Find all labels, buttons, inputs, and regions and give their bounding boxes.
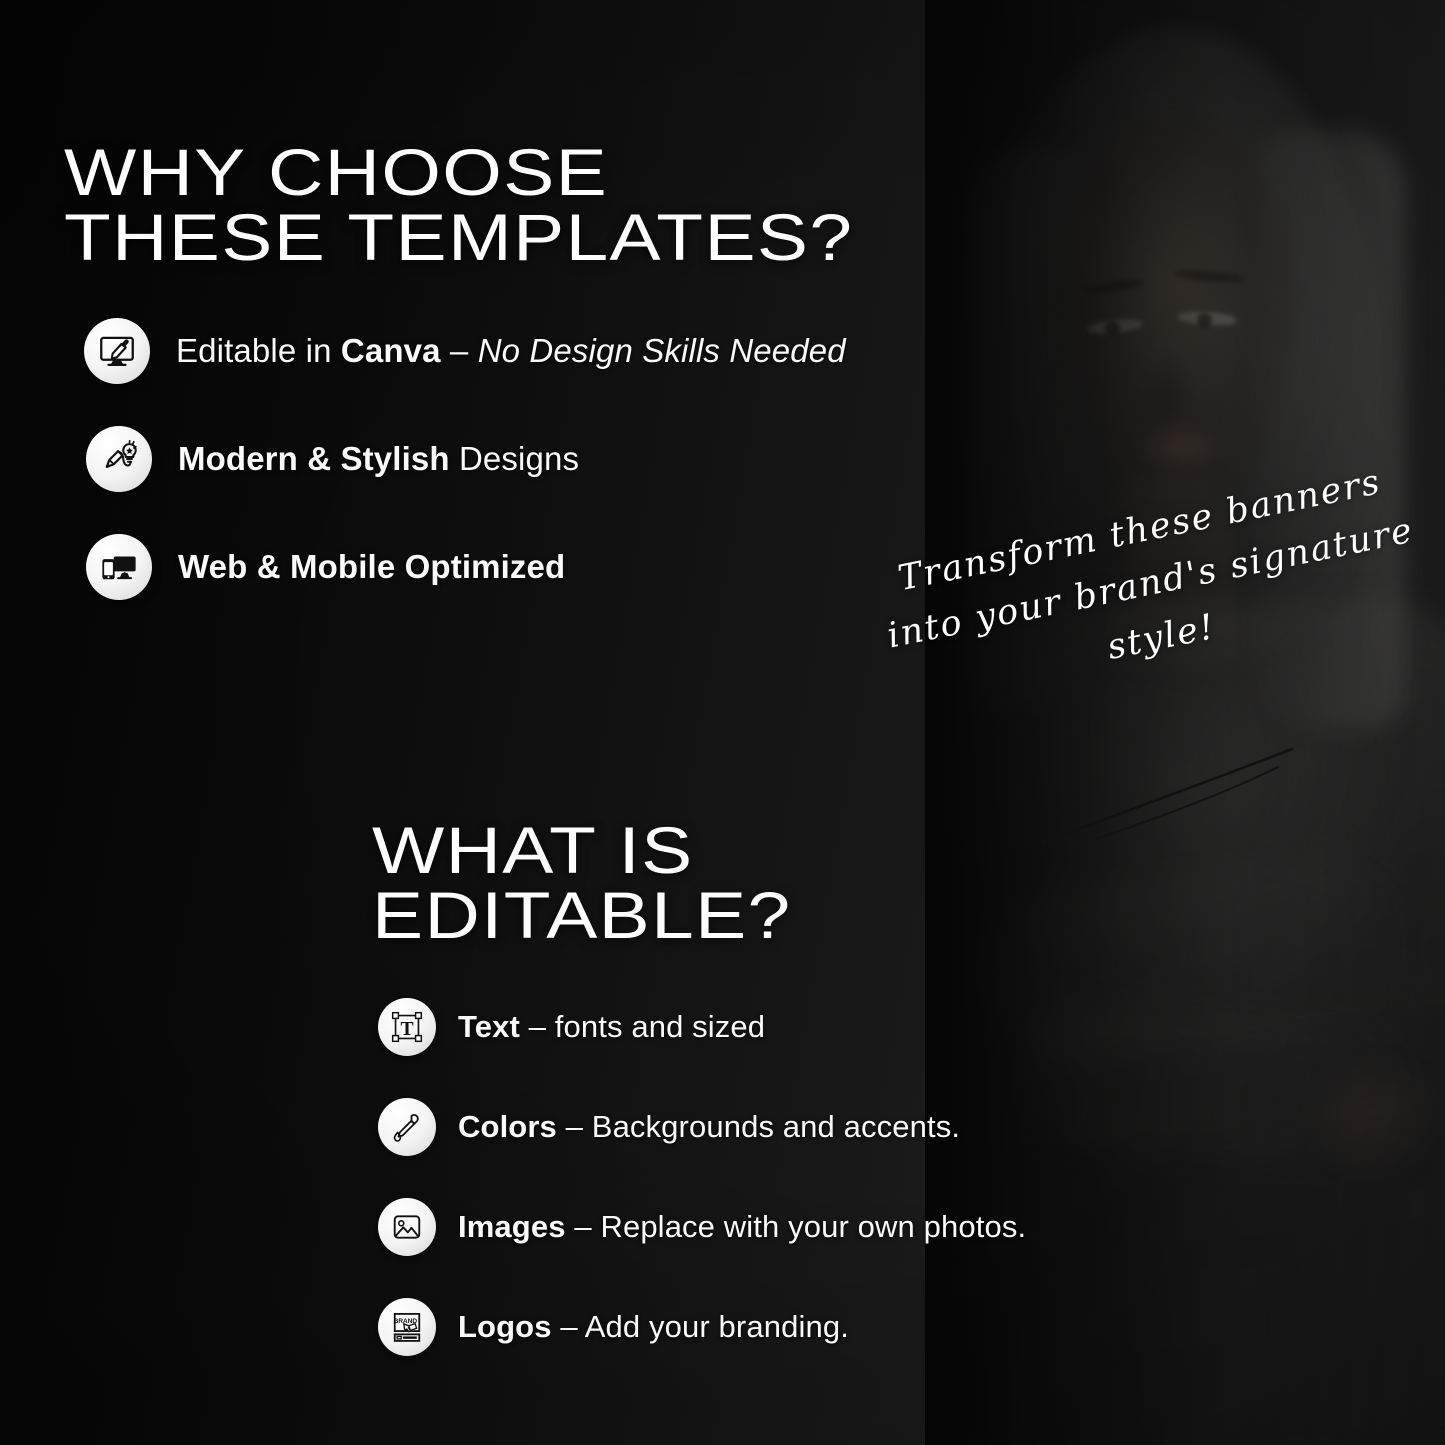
photo-eye-right	[1177, 310, 1238, 327]
svg-text:T: T	[400, 1019, 413, 1040]
editable-tail: Add your branding.	[585, 1309, 849, 1344]
text-box-icon: T	[378, 998, 436, 1056]
feature-bold: Web & Mobile Optimized	[178, 548, 565, 585]
tagline-line-2: into your brand's signature	[871, 502, 1431, 667]
editable-dash: –	[566, 1209, 601, 1244]
tagline-line-1: Transform these banners	[860, 448, 1420, 613]
tagline-line-3: style!	[882, 555, 1442, 720]
photo-pupil-right	[1197, 313, 1212, 328]
editable-bold: Logos	[458, 1309, 552, 1344]
editable-row-logos: BRAND Logos – Add your branding.	[378, 1298, 849, 1356]
photo-arm-upper	[976, 844, 1425, 1075]
editable-bold: Text	[458, 1009, 520, 1044]
eyedropper-icon	[378, 1098, 436, 1156]
photo-hair-right	[1255, 130, 1405, 730]
feature-bold: Modern & Stylish	[178, 440, 450, 477]
editable-bold: Colors	[458, 1109, 557, 1144]
promo-graphic: WHY CHOOSE THESE TEMPLATES? Editable in …	[0, 0, 1445, 1445]
editable-text-text: Text – fonts and sized	[458, 1009, 765, 1045]
editable-tail: fonts and sized	[555, 1009, 765, 1044]
editable-text-images: Images – Replace with your own photos.	[458, 1209, 1026, 1245]
photo-neck	[1123, 520, 1233, 670]
photo-hair-left	[967, 150, 1087, 710]
brand-logo-icon: BRAND	[378, 1298, 436, 1356]
photo-brow-left	[1083, 278, 1146, 296]
photo-hand	[1315, 1060, 1445, 1180]
monitor-paintbrush-icon	[84, 318, 150, 384]
pencil-lightbulb-icon	[86, 426, 152, 492]
feature-row-canva: Editable in Canva – No Design Skills Nee…	[84, 318, 846, 384]
editable-bold: Images	[458, 1209, 566, 1244]
editable-dash: –	[557, 1109, 592, 1144]
feature-text-canva: Editable in Canva – No Design Skills Nee…	[176, 332, 846, 370]
photo-eye-left	[1086, 317, 1143, 336]
feature-row-webmobile: Web & Mobile Optimized	[86, 534, 565, 600]
photo-hair	[963, 28, 1383, 668]
photo-nose	[1141, 352, 1193, 416]
editable-row-text: T Text – fonts and sized	[378, 998, 765, 1056]
photo-brow-right	[1173, 269, 1246, 284]
feature-lead: Editable in	[176, 332, 341, 369]
editable-dash: –	[552, 1309, 585, 1344]
editable-row-colors: Colors – Backgrounds and accents.	[378, 1098, 960, 1156]
image-frame-icon	[378, 1198, 436, 1256]
feature-text-modern: Modern & Stylish Designs	[178, 440, 579, 478]
feature-dash	[450, 440, 459, 477]
feature-text-webmobile: Web & Mobile Optimized	[178, 548, 565, 586]
photo-face	[1051, 118, 1291, 518]
handwritten-tagline: Transform these banners into your brand'…	[860, 448, 1441, 719]
editable-tail: Replace with your own photos.	[600, 1209, 1026, 1244]
photo-chin	[1095, 470, 1245, 560]
page-title-why-choose: WHY CHOOSE THESE TEMPLATES?	[64, 140, 853, 269]
photo-torso	[925, 600, 1445, 1445]
phone-monitor-icon	[86, 534, 152, 600]
underline-flourish-icon	[1030, 735, 1410, 855]
photo-lips	[1131, 424, 1227, 476]
feature-tail: Designs	[459, 440, 579, 477]
feature-row-modern: Modern & Stylish Designs	[86, 426, 579, 492]
photo-pupil-left	[1105, 321, 1120, 336]
editable-dash: –	[520, 1009, 555, 1044]
editable-text-logos: Logos – Add your branding.	[458, 1309, 849, 1345]
photo-arm-lower	[1009, 993, 1421, 1177]
page-title-what-is-editable: WHAT IS EDITABLE?	[372, 818, 791, 947]
feature-italic: No Design Skills Needed	[478, 332, 846, 369]
editable-text-colors: Colors – Backgrounds and accents.	[458, 1109, 960, 1145]
editable-row-images: Images – Replace with your own photos.	[378, 1198, 1026, 1256]
feature-bold: Canva	[341, 332, 441, 369]
editable-tail: Backgrounds and accents.	[592, 1109, 960, 1144]
feature-dash: –	[441, 332, 478, 369]
